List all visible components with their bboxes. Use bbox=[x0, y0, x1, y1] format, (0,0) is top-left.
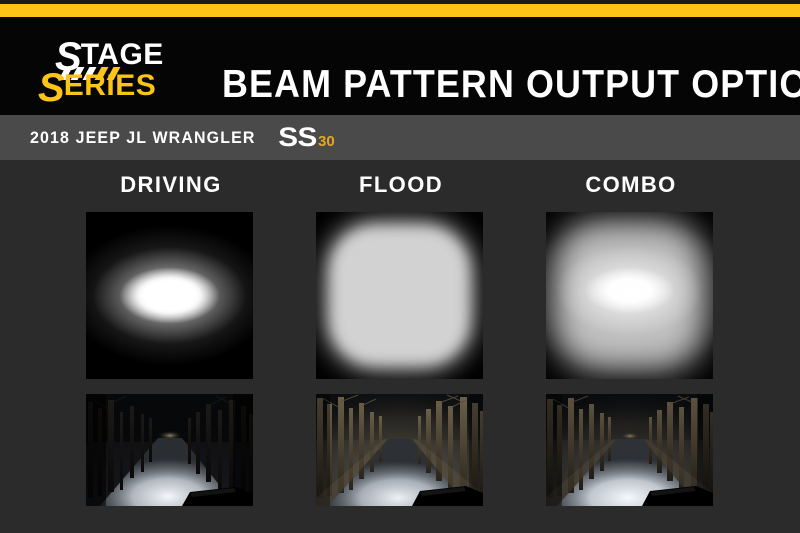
column-heading-combo: COMBO bbox=[516, 172, 746, 198]
stage-series-logo: STAGE SERIES bbox=[38, 37, 218, 103]
page-title: BEAM PATTERN OUTPUT OPTIONS bbox=[222, 63, 800, 107]
comparison-grid: DRIVING bbox=[0, 160, 800, 533]
combo-beam-pattern bbox=[546, 212, 713, 379]
logo-series-rest: ERIES bbox=[64, 69, 157, 102]
combo-road-photo bbox=[546, 394, 713, 506]
model-prefix: SS bbox=[278, 122, 317, 153]
model-badge: SS30 bbox=[280, 122, 335, 153]
driving-photo-graphic bbox=[86, 394, 253, 506]
logo-word-series: SERIES bbox=[38, 68, 156, 108]
model-number: 30 bbox=[318, 133, 335, 150]
beam-pattern-infographic: { "theme": { "accent_yellow": "#fbc416",… bbox=[0, 0, 800, 533]
flood-photo-graphic bbox=[316, 394, 483, 506]
flood-beam-pattern bbox=[316, 212, 483, 379]
driving-road-photo bbox=[86, 394, 253, 506]
yellow-accent-bar bbox=[0, 4, 800, 17]
flood-road-photo bbox=[316, 394, 483, 506]
flood-beam-glow bbox=[316, 212, 483, 379]
column-heading-flood: FLOOD bbox=[286, 172, 516, 198]
combo-beam-glow bbox=[546, 212, 713, 379]
subtitle-bar: 2018 JEEP JL WRANGLER SS30 bbox=[0, 115, 800, 160]
column-heading-driving: DRIVING bbox=[56, 172, 286, 198]
combo-photo-graphic bbox=[546, 394, 713, 506]
driving-beam-glow bbox=[86, 212, 253, 379]
vehicle-label: 2018 JEEP JL WRANGLER bbox=[30, 128, 256, 148]
driving-beam-pattern bbox=[86, 212, 253, 379]
header-bar: STAGE SERIES BEAM PATTERN OUTPUT OPTIONS bbox=[0, 17, 800, 115]
logo-series-initial: S bbox=[38, 66, 64, 110]
